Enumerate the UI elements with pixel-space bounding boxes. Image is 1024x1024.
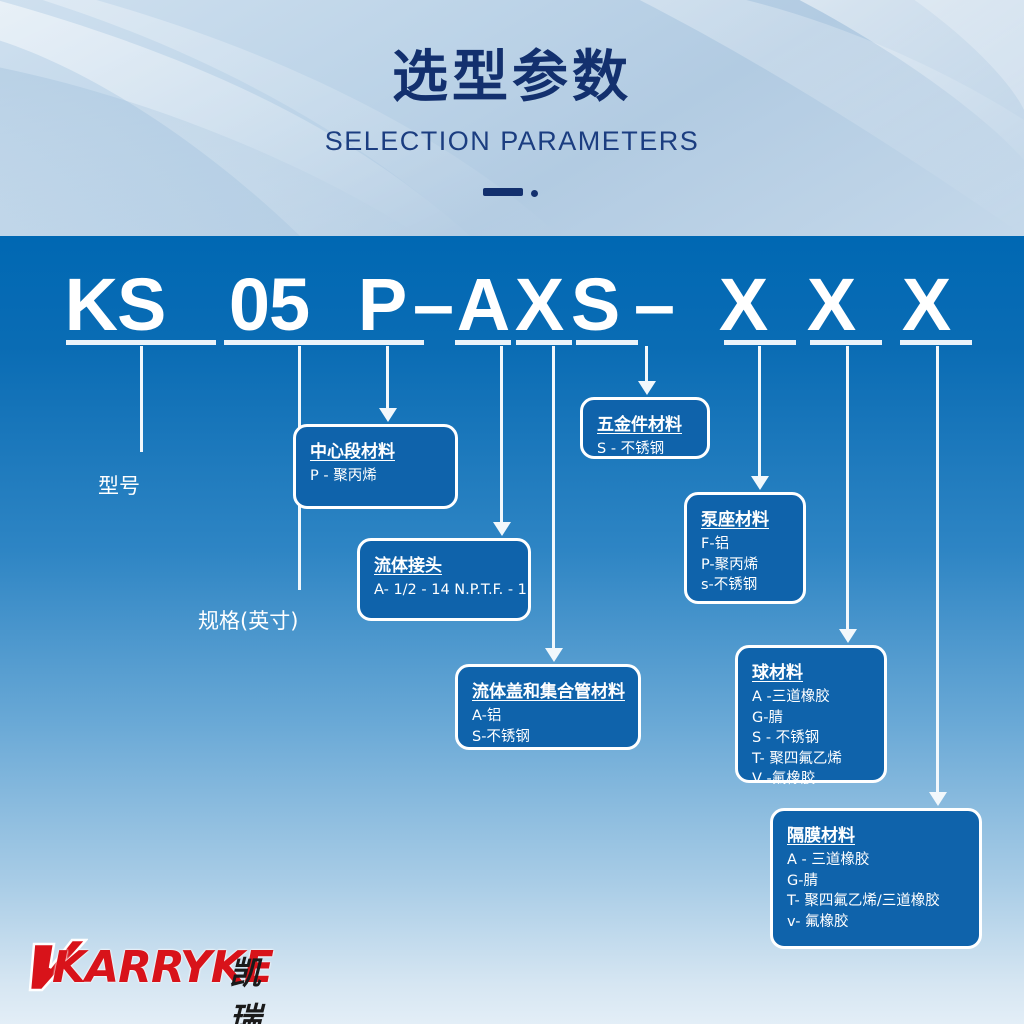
callout-option-0: S - 不锈钢 (597, 439, 693, 460)
callout-fluid-connection[interactable]: 流体接头A- 1/2 - 14 N.P.T.F. - 1 (357, 538, 531, 621)
leader-diaphragm-material-arrow-icon (929, 792, 947, 806)
callout-option-3: v- 氟橡胶 (787, 912, 965, 933)
code-underline-3 (455, 340, 511, 345)
diagram-panel: KS05P–AXS–XXX 型号规格(英寸) 中心段材料P - 聚丙烯流体接头A… (0, 236, 1024, 1024)
callout-title: 球材料 (752, 658, 870, 683)
callout-title: 隔膜材料 (787, 821, 965, 846)
callout-option-1: S-不锈钢 (472, 727, 624, 748)
selection-parameters-page: 选型参数 SELECTION PARAMETERS KS05P–AXS–XXX … (0, 0, 1024, 1024)
model-code-char-5: X (508, 268, 570, 342)
leader-center-section-arrow-icon (379, 408, 397, 422)
callout-center-section-material[interactable]: 中心段材料P - 聚丙烯 (293, 424, 458, 509)
callout-title: 五金件材料 (597, 410, 693, 435)
leader-ball-material (846, 346, 849, 629)
code-underline-5 (576, 340, 638, 345)
model-number-label: 型号 (98, 470, 140, 500)
callout-title: 泵座材料 (701, 505, 789, 530)
code-underline-6 (724, 340, 796, 345)
leader-diaphragm-material (936, 346, 939, 792)
leader-fluid-cover-arrow-icon (545, 648, 563, 662)
callout-title: 流体盖和集合管材料 (472, 677, 624, 702)
callout-option-2: s-不锈钢 (701, 575, 789, 596)
leader-hardware-material (645, 346, 648, 381)
leader-fluid-cover (552, 346, 555, 648)
callout-pump-base-material[interactable]: 泵座材料F-铝P-聚丙烯s-不锈钢 (684, 492, 806, 604)
model-code-char-8: X (712, 268, 774, 342)
leader-ball-material-arrow-icon (839, 629, 857, 643)
title-divider-dash (483, 188, 523, 196)
model-code-char-0: KS (60, 268, 170, 342)
leader-center-section (386, 346, 389, 408)
brand-name-cn: 凯瑞克泵业 (229, 948, 262, 1024)
callout-option-0: A -三道橡胶 (752, 687, 870, 708)
size-inch-label: 规格(英寸) (198, 605, 298, 635)
code-underline-4 (516, 340, 572, 345)
callout-option-1: G-腈 (787, 871, 965, 892)
model-code-char-1: 05 (210, 268, 328, 342)
code-underline-7 (810, 340, 882, 345)
leader-model-number (140, 346, 143, 452)
leader-hardware-material-arrow-icon (638, 381, 656, 395)
model-code-char-9: X (800, 268, 862, 342)
callout-title: 流体接头 (374, 551, 514, 576)
callout-option-0: P - 聚丙烯 (310, 466, 441, 487)
callout-diaphragm-material[interactable]: 隔膜材料A - 三道橡胶G-腈T- 聚四氟乙烯/三道橡胶v- 氟橡胶 (770, 808, 982, 949)
callout-option-2: T- 聚四氟乙烯/三道橡胶 (787, 891, 965, 912)
callout-option-0: A-铝 (472, 706, 624, 727)
callout-fluid-cover-manifold-material[interactable]: 流体盖和集合管材料A-铝S-不锈钢 (455, 664, 641, 750)
code-underline-2 (352, 340, 424, 345)
callout-option-0: F-铝 (701, 534, 789, 555)
page-title-en: SELECTION PARAMETERS (0, 126, 1024, 157)
leader-fluid-connection (500, 346, 503, 522)
callout-option-1: P-聚丙烯 (701, 555, 789, 576)
model-code-char-4: A (452, 268, 514, 342)
title-divider-dot (531, 190, 538, 197)
code-underline-0 (66, 340, 216, 345)
model-code-char-6: S (564, 268, 626, 342)
leader-pump-base-material (758, 346, 761, 476)
model-code-char-7: – (625, 268, 683, 342)
callout-option-1: G-腈 (752, 708, 870, 729)
callout-hardware-material[interactable]: 五金件材料S - 不锈钢 (580, 397, 710, 459)
callout-option-2: S - 不锈钢 (752, 728, 870, 749)
callout-ball-material[interactable]: 球材料A -三道橡胶G-腈S - 不锈钢T- 聚四氟乙烯V -氟橡胶 (735, 645, 887, 783)
callout-option-3: T- 聚四氟乙烯 (752, 749, 870, 770)
code-underline-8 (900, 340, 972, 345)
page-title-cn: 选型参数 (0, 32, 1024, 113)
callout-option-0: A- 1/2 - 14 N.P.T.F. - 1 (374, 580, 514, 601)
callout-option-4: V -氟橡胶 (752, 769, 870, 790)
page-header: 选型参数 SELECTION PARAMETERS (0, 0, 1024, 236)
leader-fluid-connection-arrow-icon (493, 522, 511, 536)
callout-option-0: A - 三道橡胶 (787, 850, 965, 871)
model-code-char-2: P (352, 268, 412, 342)
callout-title: 中心段材料 (310, 437, 441, 462)
leader-pump-base-material-arrow-icon (751, 476, 769, 490)
model-code-char-10: X (895, 268, 957, 342)
